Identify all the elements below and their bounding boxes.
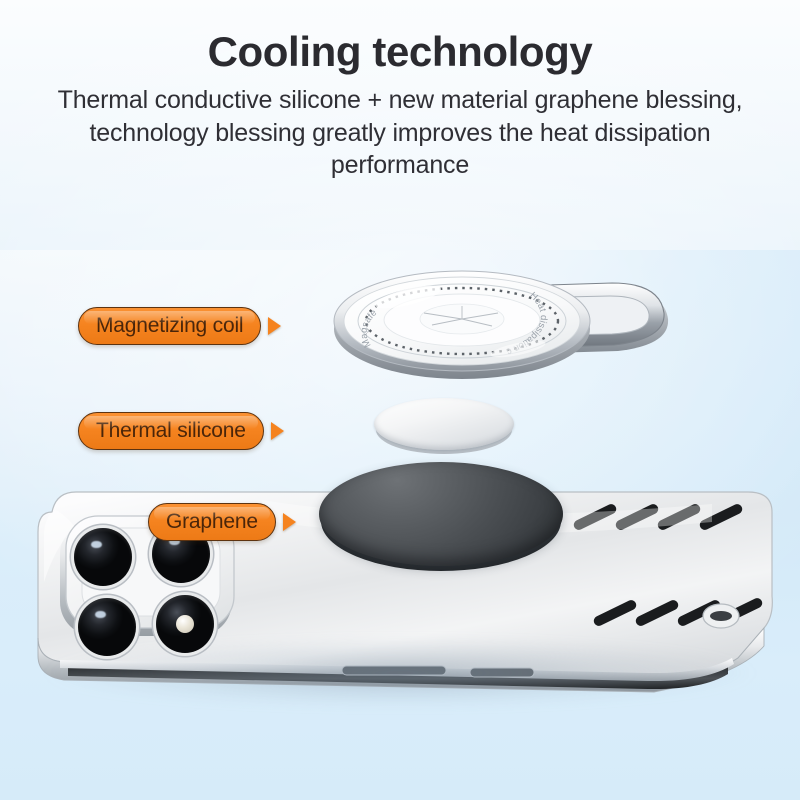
camera-lens-bottom-left[interactable] xyxy=(78,598,136,656)
page-subtitle: Thermal conductive silicone + new materi… xyxy=(0,84,800,182)
callout-label-graphene[interactable]: Graphene xyxy=(148,503,276,541)
callout-arrow-icon xyxy=(271,422,284,440)
callout-magnetizing-coil[interactable]: Magnetizing coil xyxy=(78,307,281,345)
lens-glint xyxy=(95,611,105,619)
callout-thermal-silicone[interactable]: Thermal silicone xyxy=(78,412,284,450)
page-title: Cooling technology xyxy=(0,28,800,75)
graphene-disc-face xyxy=(319,462,563,566)
case-drop-shadow xyxy=(42,642,758,704)
callout-label-magnetizing-coil[interactable]: Magnetizing coil xyxy=(78,307,261,345)
callout-label-thermal-silicone[interactable]: Thermal silicone xyxy=(78,412,264,450)
ring-holder-graphic: Magsafe Heat dissipation case xyxy=(312,253,682,388)
camera-flash-module[interactable] xyxy=(156,595,214,653)
product-marketing-image: Cooling technology Thermal conductive si… xyxy=(0,0,800,800)
callout-arrow-icon xyxy=(283,513,296,531)
header-block: Cooling technology Thermal conductive si… xyxy=(0,28,800,182)
callout-graphene[interactable]: Graphene xyxy=(148,503,296,541)
flash-led xyxy=(176,615,195,634)
camera-lens-top-left[interactable] xyxy=(74,528,132,586)
silicone-disc-face xyxy=(374,398,514,450)
thermal-silicone-disc xyxy=(374,398,514,460)
magsafe-ring-holder: Magsafe Heat dissipation case xyxy=(312,253,682,388)
graphene-disc xyxy=(319,462,563,578)
callout-arrow-icon xyxy=(268,317,281,335)
speaker-port-cutout[interactable] xyxy=(703,604,739,628)
lens-glint xyxy=(91,541,101,549)
